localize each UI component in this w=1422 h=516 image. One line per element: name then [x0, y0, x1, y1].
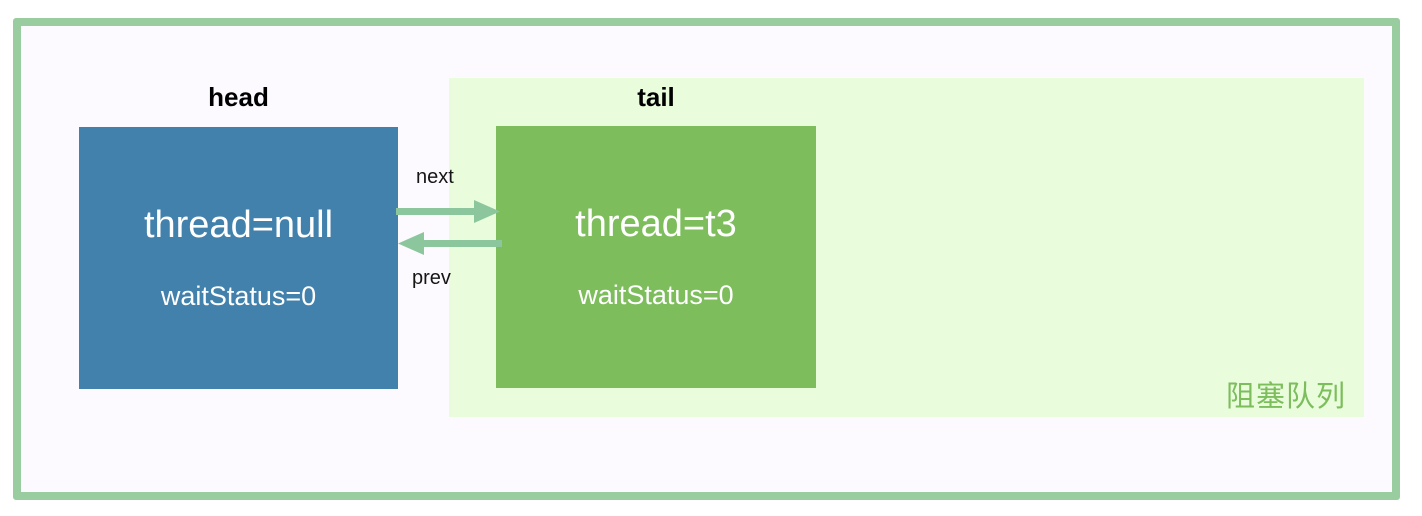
tail-pointer-label: tail — [496, 82, 816, 113]
prev-arrow-icon — [398, 232, 502, 255]
diagram-frame: 阻塞队列 head tail thread=null waitStatus=0 … — [13, 18, 1400, 500]
tail-node-thread: thread=t3 — [575, 205, 737, 243]
next-arrow-icon — [396, 200, 500, 223]
node-link-arrows — [396, 196, 502, 258]
tail-node-waitstatus: waitStatus=0 — [578, 282, 733, 309]
next-edge-label: next — [416, 166, 454, 189]
prev-edge-label: prev — [412, 267, 451, 290]
head-node-waitstatus: waitStatus=0 — [161, 283, 316, 310]
head-pointer-label: head — [79, 82, 398, 113]
blocking-queue-label: 阻塞队列 — [1226, 373, 1346, 415]
head-node-box: thread=null waitStatus=0 — [79, 127, 398, 389]
tail-node-box: thread=t3 waitStatus=0 — [496, 126, 816, 388]
head-node-thread: thread=null — [144, 206, 333, 244]
diagram-canvas: 阻塞队列 head tail thread=null waitStatus=0 … — [0, 0, 1422, 516]
